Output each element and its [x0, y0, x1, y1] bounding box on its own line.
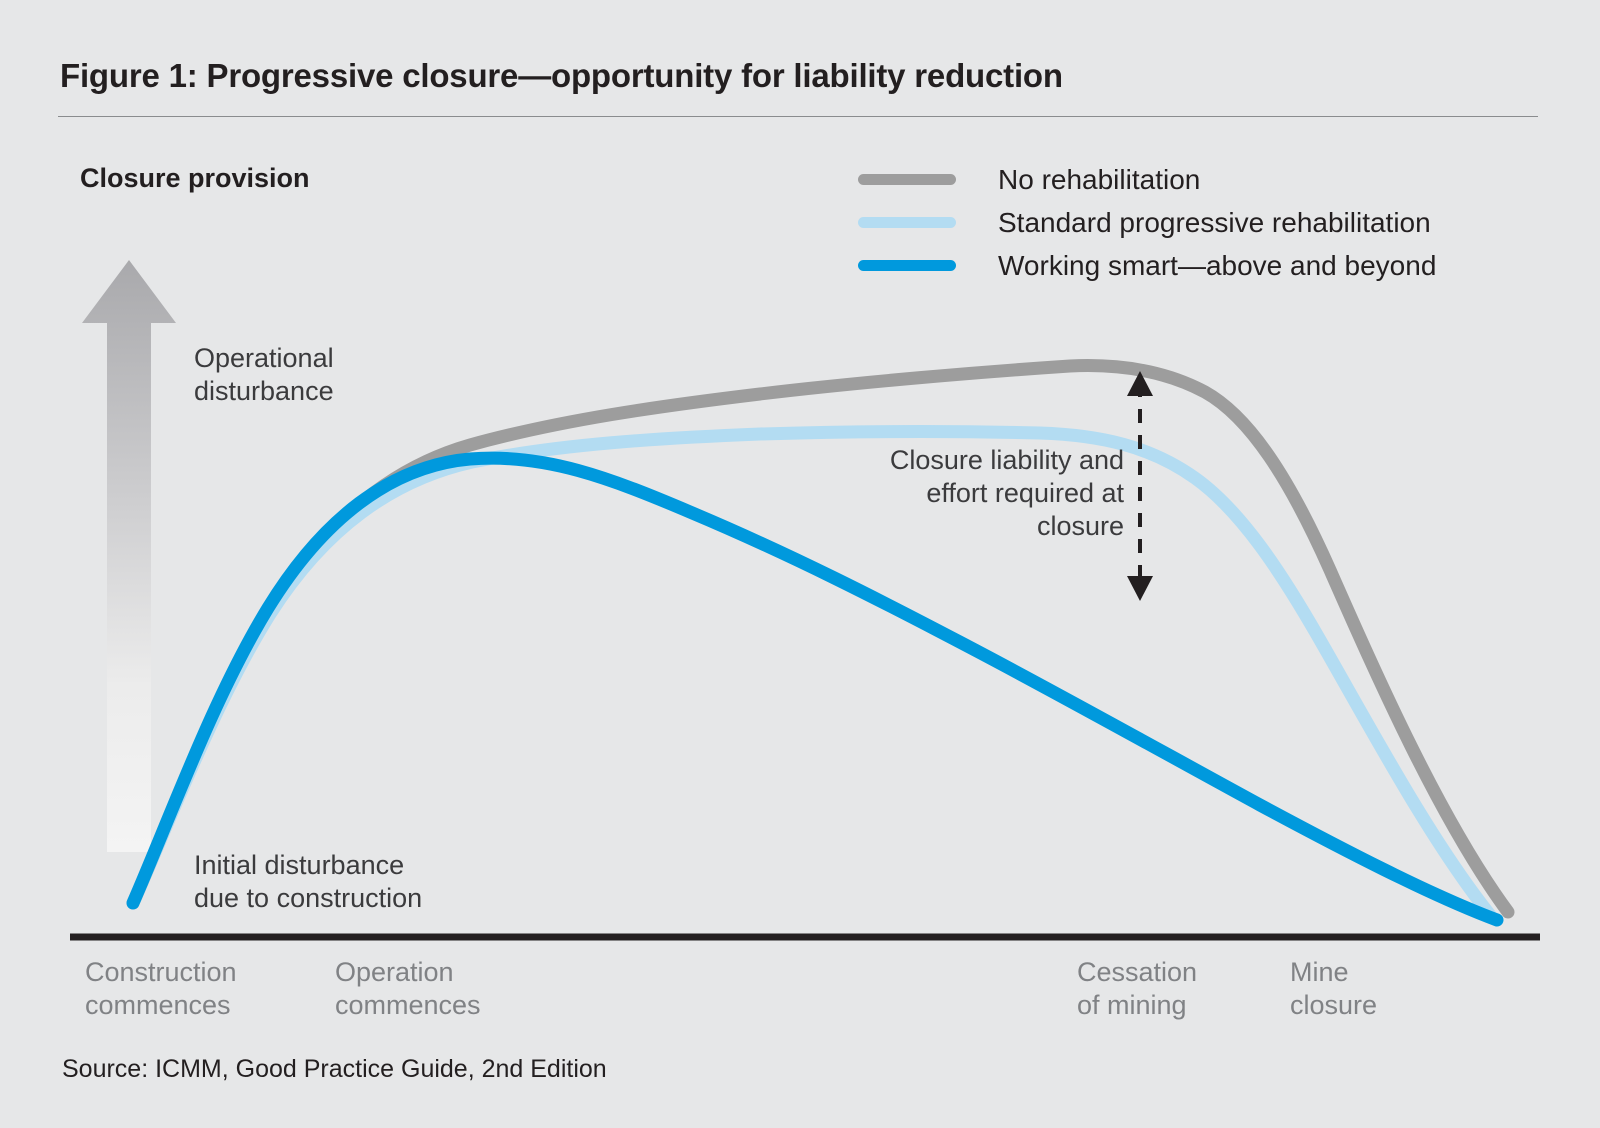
annotation-operational-disturbance: Operational disturbance: [194, 342, 334, 408]
x-axis-label-operation-commences: Operation commences: [335, 956, 481, 1022]
x-axis-label-cessation-of-mining: Cessation of mining: [1077, 956, 1197, 1022]
legend-label-standard-progressive-rehabilitation: Standard progressive rehabilitation: [998, 209, 1431, 237]
legend-swatch-no-rehabilitation: [858, 174, 956, 185]
legend-item-working-smart[interactable]: Working smart—above and beyond: [858, 244, 1538, 287]
legend-item-standard-progressive-rehabilitation[interactable]: Standard progressive rehabilitation: [858, 201, 1538, 244]
page-title: Figure 1: Progressive closure—opportunit…: [60, 57, 1063, 95]
legend-label-no-rehabilitation: No rehabilitation: [998, 166, 1200, 194]
source-attribution: Source: ICMM, Good Practice Guide, 2nd E…: [62, 1055, 607, 1084]
chart-legend: No rehabilitation Standard progressive r…: [858, 158, 1538, 287]
closure-liability-measure-arrow: [1127, 371, 1153, 601]
legend-label-working-smart: Working smart—above and beyond: [998, 252, 1436, 280]
figure-page: Figure 1: Progressive closure—opportunit…: [0, 0, 1600, 1128]
y-axis-title: Closure provision: [80, 163, 310, 194]
title-divider: [58, 116, 1538, 117]
legend-item-no-rehabilitation[interactable]: No rehabilitation: [858, 158, 1538, 201]
x-axis-label-construction-commences: Construction commences: [85, 956, 237, 1022]
legend-swatch-standard-progressive-rehabilitation: [858, 217, 956, 228]
annotation-closure-liability: Closure liability and effort required at…: [836, 444, 1124, 543]
legend-swatch-working-smart: [858, 260, 956, 271]
series-line-no-rehabilitation: [133, 366, 1508, 912]
closure-provision-arrow-icon: [82, 260, 176, 852]
annotation-initial-disturbance: Initial disturbance due to construction: [194, 849, 422, 915]
x-axis-label-mine-closure: Mine closure: [1290, 956, 1377, 1022]
series-line-standard-progressive-rehabilitation: [133, 432, 1490, 915]
